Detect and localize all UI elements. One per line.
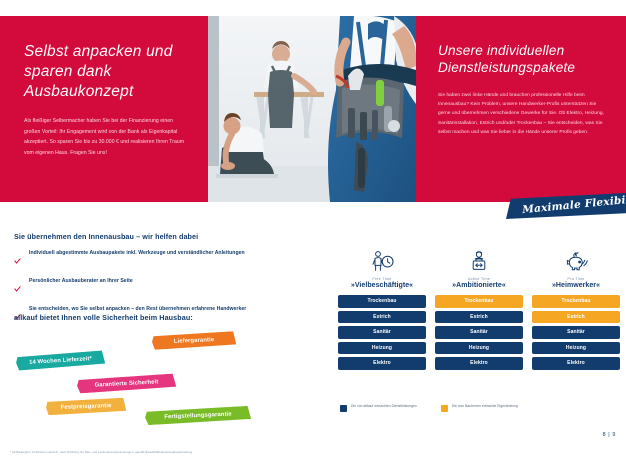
list-item-label: Individuell abgestimmte Ausbaupakete ink… — [29, 250, 245, 257]
package-header: Pro Time »Heimwerker« — [532, 248, 620, 289]
table-cell[interactable]: Elektro — [435, 357, 523, 370]
package-cells: Trockenbau Estrich Sanitär Heizung Elekt… — [435, 295, 523, 370]
flexibility-ribbon: Maximale Flexibilität — [506, 193, 626, 219]
package-name: »Ambitionierte« — [435, 282, 523, 289]
legend-label: Die vom Bauherren erbrachte Eigenleistun… — [452, 404, 518, 408]
table-cell[interactable]: Elektro — [338, 357, 426, 370]
table-cell[interactable]: Heizung — [338, 342, 426, 355]
table-cell[interactable]: Estrich — [532, 311, 620, 324]
service-packages-table: Free Time »Vielbeschäftigte« Trockenbau … — [338, 248, 620, 373]
table-cell[interactable]: Sanitär — [435, 326, 523, 339]
badge-liefergarantie: Liefergarantie — [152, 331, 237, 350]
package-column-heimwerker[interactable]: Pro Time »Heimwerker« Trockenbau Estrich… — [532, 248, 620, 373]
package-column-ambitionierte[interactable]: Active Time »Ambitionierte« Trockenbau E… — [435, 248, 523, 373]
legend-swatch-orange — [441, 405, 448, 412]
list-item: Individuell abgestimmte Ausbaupakete ink… — [14, 250, 314, 269]
guarantee-badges: Liefergarantie 14 Wochen Lieferzeit* Gar… — [0, 326, 330, 446]
badge-lieferzeit: 14 Wochen Lieferzeit* — [16, 350, 106, 370]
table-cell[interactable]: Trockenbau — [532, 295, 620, 308]
table-cell[interactable]: Estrich — [338, 311, 426, 324]
legend-swatch-navy — [340, 405, 347, 412]
hero-band: Selbst anpacken und sparen dank Ausbauko… — [0, 16, 626, 202]
table-cell[interactable]: Heizung — [532, 342, 620, 355]
list-item: Persönlicher Ausbauberater an Ihrer Seit… — [14, 278, 314, 297]
left-red-panel: Selbst anpacken und sparen dank Ausbauko… — [0, 16, 208, 202]
legend-item-allkauf: Die von allkauf erbrachten Dienstleistun… — [340, 404, 417, 412]
checklist-title: Sie übernehmen den Innenausbau – wir hel… — [14, 232, 198, 241]
check-icon — [14, 279, 21, 297]
package-header: Active Time »Ambitionierte« — [435, 248, 523, 289]
left-panel-body: Als fleißiger Selbermacher haben Sie bei… — [24, 116, 186, 158]
guarantees-title: allkauf bietet Ihnen volle Sicherheit be… — [14, 313, 193, 322]
left-panel-heading: Selbst anpacken und sparen dank Ausbauko… — [24, 42, 186, 101]
footnote: * Ab Baubeginn 14 Wochen verkürzt, nach … — [10, 450, 193, 454]
badge-garantierte-sicherheit: Garantierte Sicherheit — [77, 373, 177, 393]
list-item-label: Persönlicher Ausbauberater an Ihrer Seit… — [29, 278, 133, 285]
table-cell[interactable]: Trockenbau — [338, 295, 426, 308]
package-cells: Trockenbau Estrich Sanitär Heizung Elekt… — [338, 295, 426, 370]
check-icon — [14, 251, 21, 269]
package-name: »Vielbeschäftigte« — [338, 282, 426, 289]
table-cell[interactable]: Sanitär — [338, 326, 426, 339]
table-cell[interactable]: Elektro — [532, 357, 620, 370]
right-panel-body: Sie haben zwei linke Hände und brauchen … — [438, 91, 610, 138]
legend-label: Die von allkauf erbrachten Dienstleistun… — [351, 404, 417, 408]
table-cell[interactable]: Trockenbau — [435, 295, 523, 308]
package-column-vielbeschaeftigte[interactable]: Free Time »Vielbeschäftigte« Trockenbau … — [338, 248, 426, 373]
package-header: Free Time »Vielbeschäftigte« — [338, 248, 426, 289]
package-cells: Trockenbau Estrich Sanitär Heizung Elekt… — [532, 295, 620, 370]
table-cell[interactable]: Estrich — [435, 311, 523, 324]
construction-workers-photo — [208, 16, 416, 202]
badge-festpreisgarantie: Festpreisgarantie — [46, 398, 126, 416]
person-clock-icon — [338, 248, 426, 273]
right-panel-heading: Unsere individuellen Dienstleistungspake… — [438, 42, 610, 77]
table-cell[interactable]: Heizung — [435, 342, 523, 355]
right-red-panel: Unsere individuellen Dienstleistungspake… — [416, 16, 626, 202]
table-cell[interactable]: Sanitär — [532, 326, 620, 339]
package-subtitle: Free Time — [338, 276, 426, 281]
page-number: 8 | 9 — [603, 432, 616, 438]
list-item-label: Sie entscheiden, wo Sie selbst anpacken … — [29, 306, 246, 313]
package-subtitle: Active Time — [435, 276, 523, 281]
brochure-page: Selbst anpacken und sparen dank Ausbauko… — [0, 0, 626, 470]
packages-legend: Die von allkauf erbrachten Dienstleistun… — [340, 404, 518, 412]
package-subtitle: Pro Time — [532, 276, 620, 281]
person-toolbox-icon — [435, 248, 523, 273]
legend-item-eigenleistung: Die vom Bauherren erbrachte Eigenleistun… — [441, 404, 518, 412]
badge-fertigstellungsgarantie: Fertigstellungsgarantie — [145, 406, 252, 426]
package-name: »Heimwerker« — [532, 282, 620, 289]
piggy-bank-icon — [532, 248, 620, 273]
